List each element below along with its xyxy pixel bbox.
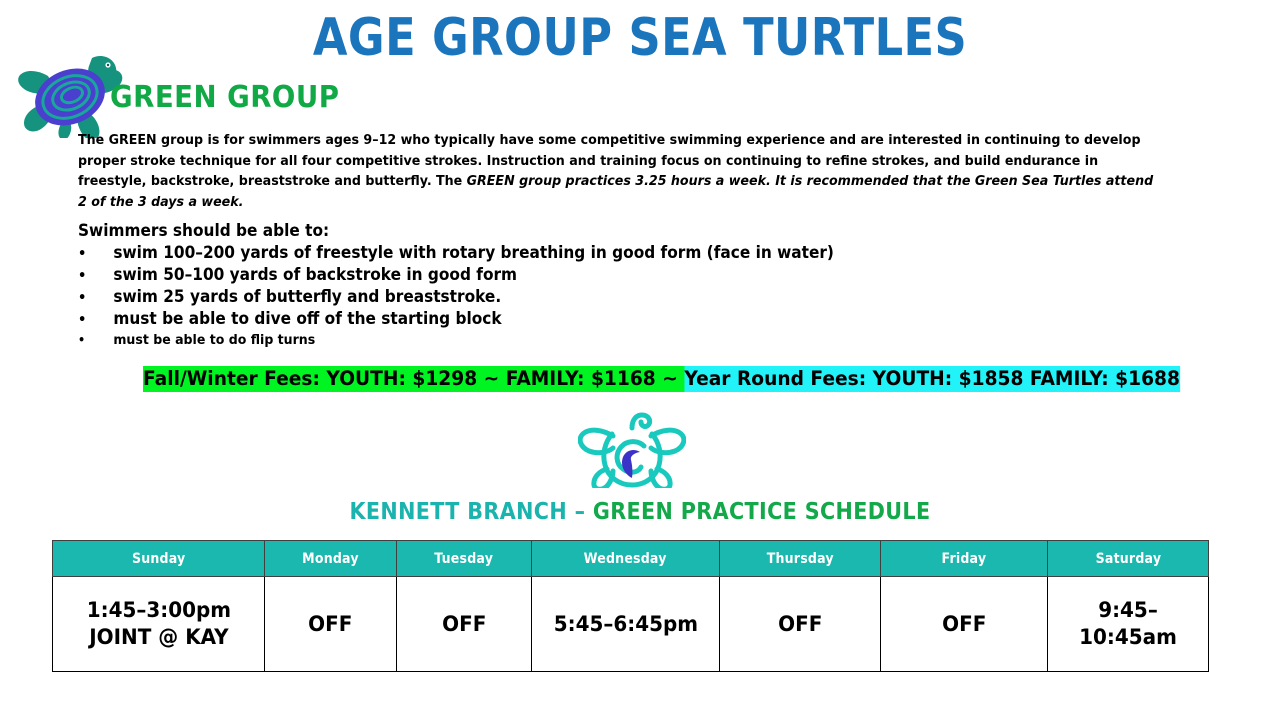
column-header-sunday: Sunday	[53, 541, 265, 577]
practice-schedule-table: Sunday Monday Tuesday Wednesday Thursday…	[52, 540, 1208, 672]
requirements-list: • swim 100–200 yards of freestyle with r…	[78, 242, 1178, 351]
fees-banner: Fall/Winter Fees: YOUTH: $1298 ~ FAMILY:…	[143, 366, 1180, 392]
list-item-label: swim 100–200 yards of freestyle with rot…	[113, 242, 834, 264]
slide-canvas: AGE GROUP SEA TURTLES	[0, 0, 1280, 720]
fall-winter-fees: Fall/Winter Fees: YOUTH: $1298 ~ FAMILY:…	[143, 366, 684, 392]
list-item-label: must be able to dive off of the starting…	[113, 308, 501, 330]
schedule-heading-group: GREEN PRACTICE SCHEDULE	[593, 499, 931, 525]
schedule-heading: KENNETT BRANCH – GREEN PRACTICE SCHEDULE	[64, 497, 1216, 527]
column-header-thursday: Thursday	[720, 541, 881, 577]
list-item: • must be able to dive off of the starti…	[78, 308, 1101, 330]
column-header-tuesday: Tuesday	[397, 541, 532, 577]
list-item: • swim 50–100 yards of backstroke in goo…	[78, 264, 1101, 286]
table-row: 1:45–3:00pm JOINT @ KAY OFF OFF 5:45–6:4…	[53, 577, 1209, 672]
cell-tuesday: OFF	[397, 577, 532, 672]
column-header-friday: Friday	[881, 541, 1048, 577]
list-item-label: must be able to do flip turns	[113, 330, 315, 351]
year-round-fees: Year Round Fees: YOUTH: $1858 FAMILY: $1…	[684, 366, 1180, 392]
list-item: • swim 100–200 yards of freestyle with r…	[78, 242, 1101, 264]
list-item-label: swim 50–100 yards of backstroke in good …	[113, 264, 517, 286]
cell-saturday: 9:45–10:45am	[1048, 577, 1209, 672]
bullet-icon: •	[78, 243, 113, 265]
page-title: AGE GROUP SEA TURTLES	[90, 8, 1191, 68]
list-item: • must be able to do flip turns	[78, 330, 1101, 351]
bullet-icon: •	[78, 287, 113, 309]
sea-turtle-icon	[578, 412, 686, 488]
cell-friday: OFF	[881, 577, 1048, 672]
list-item: • swim 25 yards of butterfly and breasts…	[78, 286, 1101, 308]
column-header-monday: Monday	[265, 541, 397, 577]
cell-monday: OFF	[265, 577, 397, 672]
bullet-icon: •	[78, 330, 113, 351]
table-header-row: Sunday Monday Tuesday Wednesday Thursday…	[53, 541, 1209, 577]
column-header-wednesday: Wednesday	[532, 541, 720, 577]
list-item-label: swim 25 yards of butterfly and breaststr…	[113, 286, 501, 308]
bullet-icon: •	[78, 309, 113, 331]
requirements-heading: Swimmers should be able to:	[78, 220, 329, 242]
group-label: GREEN GROUP	[110, 80, 339, 116]
column-header-saturday: Saturday	[1048, 541, 1209, 577]
cell-wednesday: 5:45–6:45pm	[532, 577, 720, 672]
description-paragraph: The GREEN group is for swimmers ages 9–1…	[78, 131, 1155, 213]
cell-sunday: 1:45–3:00pm JOINT @ KAY	[53, 577, 265, 672]
cell-thursday: OFF	[720, 577, 881, 672]
schedule-heading-branch: KENNETT BRANCH –	[350, 499, 593, 525]
bullet-icon: •	[78, 265, 113, 287]
